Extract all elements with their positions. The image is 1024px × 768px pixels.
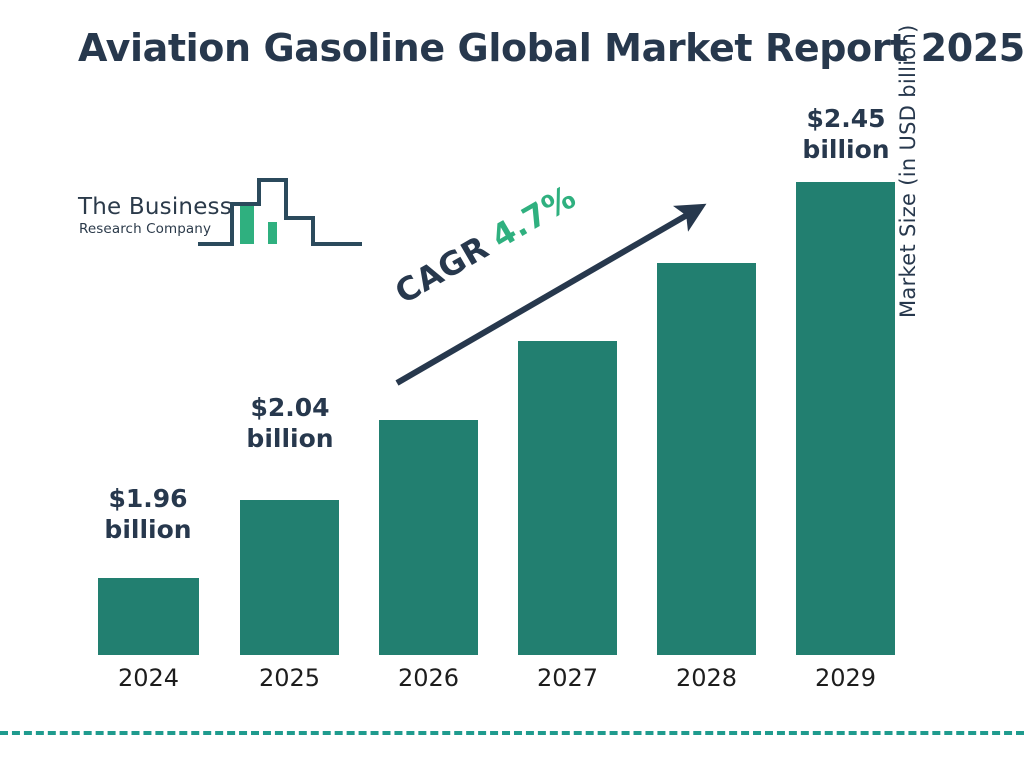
x-tick-2026: 2026: [379, 664, 478, 692]
bar-2025[interactable]: [240, 500, 339, 655]
x-tick-2029: 2029: [796, 664, 895, 692]
bar-2028[interactable]: [657, 263, 756, 655]
cagr-value: 4.7%: [485, 178, 583, 256]
footer-divider: [0, 731, 1024, 735]
x-tick-2028: 2028: [657, 664, 756, 692]
bar-2026[interactable]: [379, 420, 478, 655]
bar-label-2025: $2.04 billion: [216, 393, 364, 454]
x-tick-2025: 2025: [240, 664, 339, 692]
x-tick-2024: 2024: [98, 664, 199, 692]
bar-2024[interactable]: [98, 578, 199, 655]
cagr-annotation: CAGR4.7%: [389, 178, 583, 312]
x-tick-2027: 2027: [518, 664, 617, 692]
bar-label-2025-value: $2.04: [216, 393, 364, 424]
bar-label-2024-value: $1.96: [74, 484, 222, 515]
bar-label-2024-unit: billion: [74, 515, 222, 546]
y-axis-title: Market Size (in USD billion): [896, 0, 920, 318]
cagr-label: CAGR: [389, 228, 496, 311]
bar-2027[interactable]: [518, 341, 617, 655]
chart-canvas: Aviation Gasoline Global Market Report 2…: [0, 0, 1024, 768]
bar-chart-plot-area: $1.96 billion $2.04 billion $2.45 billio…: [0, 0, 1024, 768]
bar-2029[interactable]: [796, 182, 895, 655]
bar-label-2025-unit: billion: [216, 424, 364, 455]
bar-label-2024: $1.96 billion: [74, 484, 222, 545]
